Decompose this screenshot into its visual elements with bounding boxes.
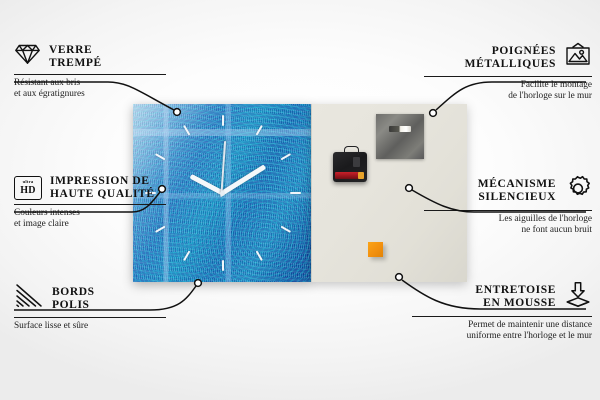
callout-description: Résistant aux briset aux égratignures <box>14 78 166 100</box>
mechanism-shaft <box>353 157 360 167</box>
product-photo <box>133 104 467 282</box>
callout-rule <box>424 210 592 211</box>
callout-header: ultra HD IMPRESSION DEHAUTE QUALITÉ <box>14 175 166 201</box>
callout-rule <box>14 317 166 318</box>
callout-verre-trempe: VERRETREMPÉ Résistant aux briset aux égr… <box>14 42 166 100</box>
callout-title: VERRETREMPÉ <box>49 44 102 70</box>
mechanism-hanger-hook <box>344 146 359 155</box>
callout-title: MÉCANISMESILENCIEUX <box>478 178 556 204</box>
callout-title: IMPRESSION DEHAUTE QUALITÉ <box>50 175 155 201</box>
callout-header: BORDSPOLIS <box>14 283 166 314</box>
diamond-icon <box>14 42 41 71</box>
callout-header: POIGNÉESMÉTALLIQUES <box>424 42 592 73</box>
callout-rule <box>14 204 166 205</box>
clock-minute-hand <box>221 164 266 195</box>
product-feature-infographic: VERRETREMPÉ Résistant aux briset aux égr… <box>0 0 600 400</box>
callout-title: POIGNÉESMÉTALLIQUES <box>465 45 556 71</box>
foam-spacer-icon <box>564 281 592 313</box>
ultra-hd-icon: ultra HD <box>14 176 42 200</box>
callout-header: MÉCANISMESILENCIEUX <box>424 175 592 207</box>
callout-description: Permet de maintenir une distanceuniforme… <box>412 320 592 342</box>
callout-bords-polis: BORDSPOLIS Surface lisse et sûre <box>14 283 166 332</box>
ultra-hd-large-label: HD <box>20 186 36 196</box>
callout-mecanisme-silencieux: MÉCANISMESILENCIEUX Les aiguilles de l'h… <box>424 175 592 236</box>
callout-entretoise-en-mousse: ENTRETOISEEN MOUSSE Permet de maintenir … <box>412 281 592 342</box>
callout-header: ENTRETOISEEN MOUSSE <box>412 281 592 313</box>
callout-impression-haute-qualite: ultra HD IMPRESSION DEHAUTE QUALITÉ Coul… <box>14 175 166 230</box>
picture-frame-hanger-icon <box>564 42 592 73</box>
gear-icon <box>564 175 592 207</box>
callout-poignees-metalliques: POIGNÉESMÉTALLIQUES Facilite le montaged… <box>424 42 592 102</box>
clock-center-cap <box>220 191 225 196</box>
silent-quartz-mechanism <box>333 152 367 182</box>
callout-description: Surface lisse et sûre <box>14 321 166 332</box>
foam-spacer <box>368 242 383 257</box>
callout-description: Couleurs intenseset image claire <box>14 208 166 230</box>
callout-rule <box>14 74 166 75</box>
callout-rule <box>424 76 592 77</box>
clock-hour-hand <box>189 174 223 195</box>
callout-title: BORDSPOLIS <box>52 286 95 312</box>
metal-hanging-bracket <box>376 114 424 159</box>
polished-edges-icon <box>14 283 44 314</box>
callout-description: Facilite le montagede l'horloge sur le m… <box>424 80 592 102</box>
aa-battery <box>335 172 360 179</box>
callout-rule <box>412 316 592 317</box>
callout-description: Les aiguilles de l'horlogene font aucun … <box>424 214 592 236</box>
battery-plus-terminal <box>358 172 364 179</box>
callout-title: ENTRETOISEEN MOUSSE <box>475 284 556 310</box>
callout-header: VERRETREMPÉ <box>14 42 166 71</box>
